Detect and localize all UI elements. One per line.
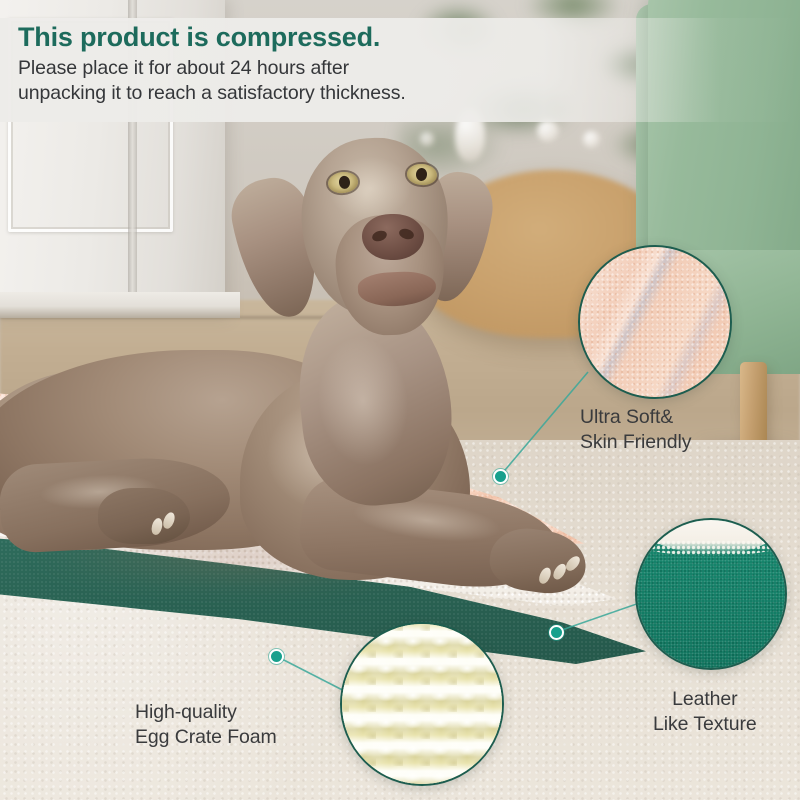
plush-fabric-fuzz [578,245,732,399]
callout-circle-egg-crate-foam [340,622,504,786]
anchor-dot-egg-crate-foam [269,649,284,664]
dog-rear-paw [98,488,190,544]
callout-caption-leather-like-texture: Leather Like Texture [653,687,757,737]
product-feature-image: This product is compressed. Please place… [0,0,800,800]
callout-circle-leather-like-texture [635,518,787,670]
banner-subtitle: Please place it for about 24 hours after… [18,56,638,106]
dog-weimaraner [0,120,590,630]
banner-text-block: This product is compressed. Please place… [18,20,638,106]
callout-caption-ultra-soft: Ultra Soft& Skin Friendly [580,405,691,455]
anchor-dot-ultra-soft [493,469,508,484]
callout-circle-ultra-soft [578,245,732,399]
banner-title: This product is compressed. [18,20,638,54]
dog-front-paw [486,524,590,599]
compressed-notice-banner: This product is compressed. Please place… [0,18,800,122]
anchor-dot-leather-like-texture [549,625,564,640]
egg-crate-foam-bumps [340,622,504,786]
dog-nose [362,214,424,260]
callout-caption-egg-crate-foam: High-quality Egg Crate Foam [135,700,277,750]
